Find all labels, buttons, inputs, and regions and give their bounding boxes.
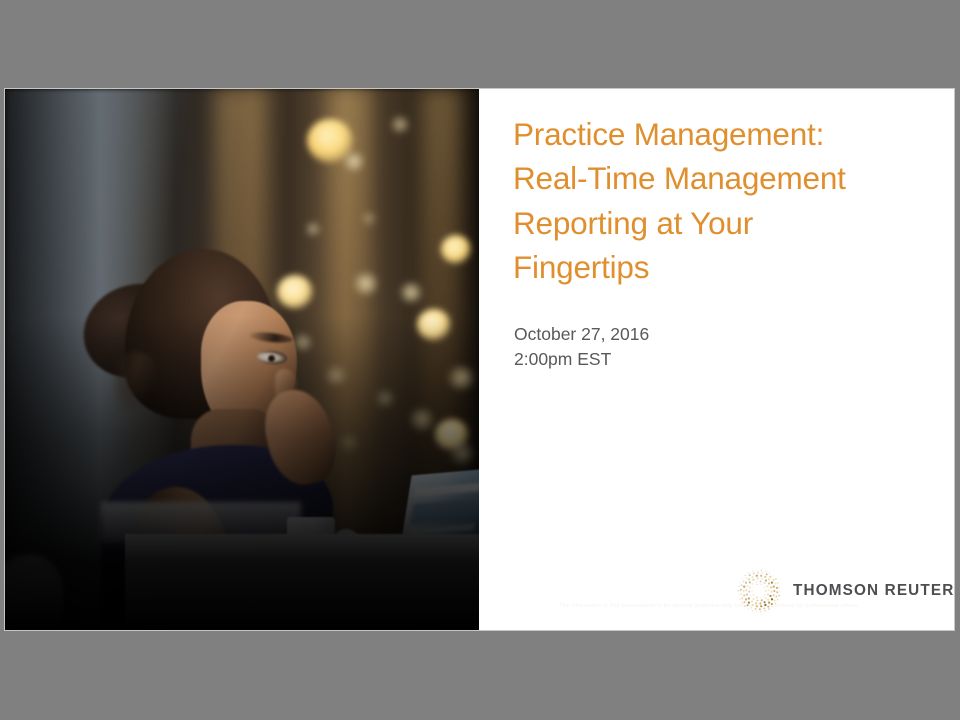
slide-title: Practice Management: Real-Time Managemen… (513, 112, 913, 289)
slide-text-panel: Practice Management: Real-Time Managemen… (479, 89, 954, 630)
thomson-reuters-logo: THOMSON REUTERS ® (737, 569, 954, 613)
presentation-viewer: Practice Management: Real-Time Managemen… (0, 0, 960, 720)
webinar-date: October 27, 2016 (514, 322, 649, 347)
photo-bottom-vignette (5, 316, 479, 630)
slide-title-line: Practice Management: (513, 112, 913, 156)
slide-canvas: Practice Management: Real-Time Managemen… (5, 89, 954, 630)
slide-title-line: Reporting at Your (513, 201, 913, 245)
webinar-time: 2:00pm EST (514, 347, 649, 372)
slide-title-line: Fingertips (513, 245, 913, 289)
thomson-reuters-wordmark: THOMSON REUTERS ® (793, 582, 954, 600)
slide-subtitle: October 27, 2016 2:00pm EST (514, 322, 649, 372)
thomson-reuters-kinesis-dot-circle-icon (737, 569, 781, 613)
wordmark-text: THOMSON REUTERS (793, 582, 954, 599)
slide-title-line: Real-Time Management (513, 156, 913, 200)
woman-working-on-laptop-at-night-photo (5, 89, 479, 630)
